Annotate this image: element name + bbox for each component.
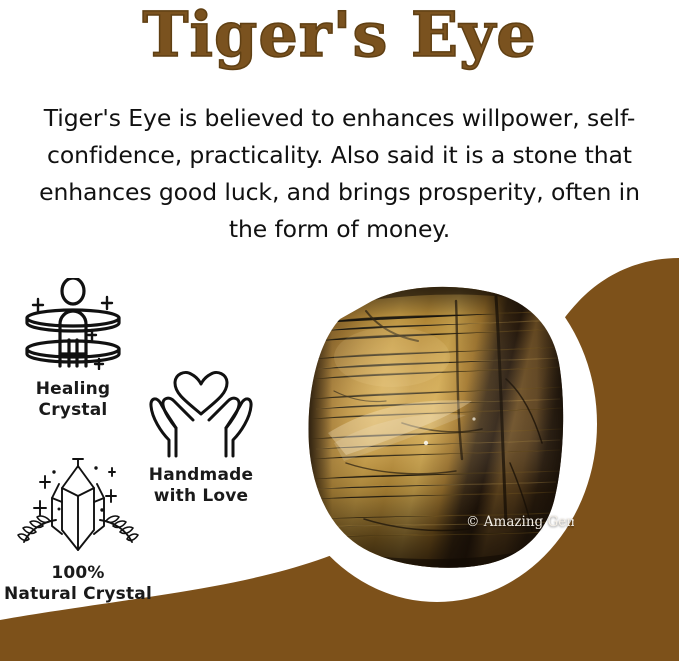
badge-label: 100% Natural Crystal	[0, 563, 156, 605]
healing-figure-aura-icon	[8, 278, 138, 375]
product-description: Tiger's Eye is believed to enhances will…	[22, 100, 657, 248]
page-title: Tiger's Eye	[0, 0, 679, 71]
badge-healing-crystal: Healing Crystal	[8, 278, 138, 421]
crystal-point-laurel-icon	[0, 458, 156, 561]
product-infographic: Tiger's Eye Tiger's Eye is believed to e…	[0, 0, 679, 661]
badge-natural-crystal: 100% Natural Crystal	[0, 458, 156, 605]
hands-holding-heart-icon	[135, 370, 267, 463]
image-watermark: © Amazing Gemstones	[466, 514, 574, 534]
badge-label: Healing Crystal	[8, 379, 138, 421]
